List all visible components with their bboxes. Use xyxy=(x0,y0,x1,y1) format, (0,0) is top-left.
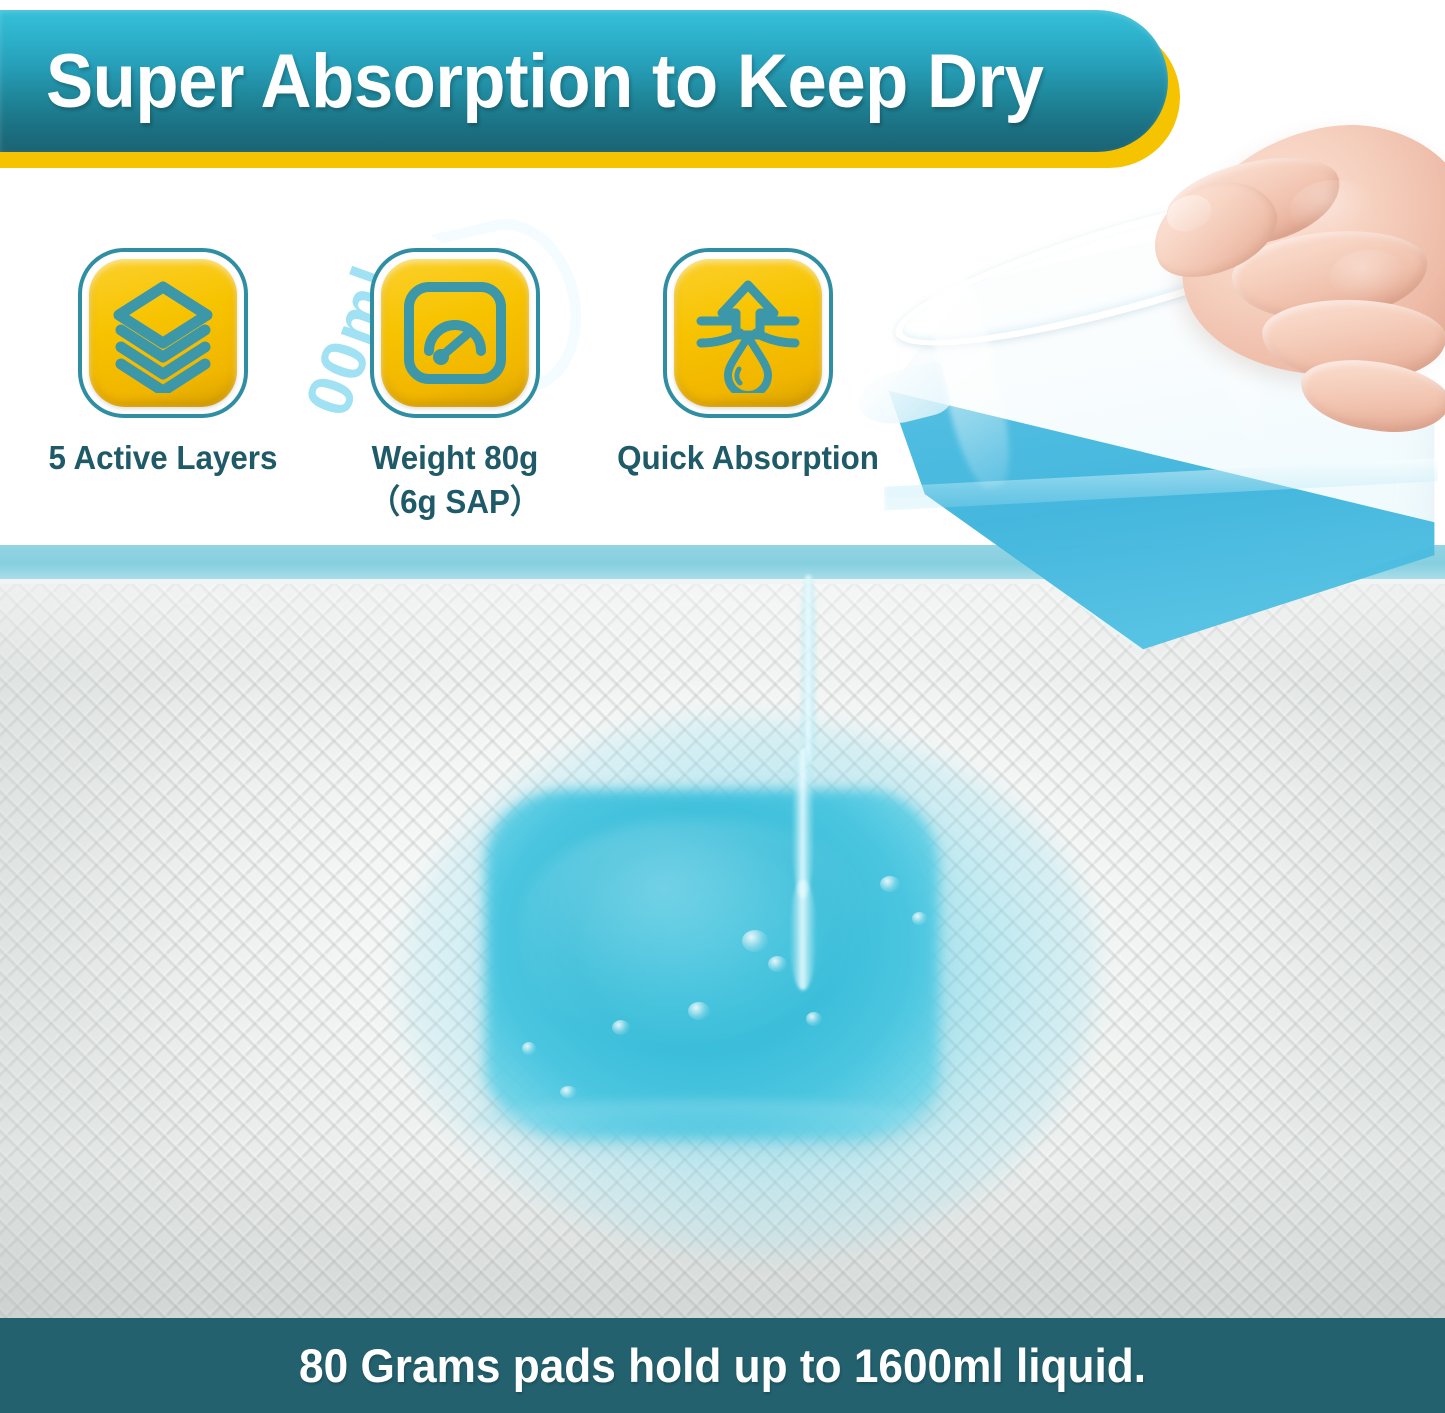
liquid-pool-lower-edge xyxy=(470,1100,940,1140)
blue-divider-band xyxy=(0,545,1445,579)
bubble xyxy=(912,912,927,925)
pouring-stream-upper xyxy=(800,575,817,765)
bubble xyxy=(560,1086,577,1098)
footer-caption: 80 Grams pads hold up to 1600ml liquid. xyxy=(299,1338,1146,1393)
bubble xyxy=(742,930,768,952)
bubble xyxy=(688,1002,710,1020)
absorption-arrow-droplet-icon xyxy=(674,259,822,407)
gauge-icon-badge xyxy=(370,248,540,418)
feature-label-absorption: Quick Absorption xyxy=(606,436,891,479)
bubble xyxy=(522,1042,536,1055)
feature-item-absorption: Quick Absorption xyxy=(598,248,898,479)
bubble xyxy=(612,1020,630,1035)
feature-label-layers: 5 Active Layers xyxy=(25,436,301,479)
pouring-stream-mid xyxy=(792,748,814,898)
header-banner: Super Absorption to Keep Dry xyxy=(0,8,1185,170)
bubble xyxy=(806,1012,822,1026)
product-infographic: Super Absorption to Keep Dry 5 Active La… xyxy=(0,0,1445,1413)
absorption-icon-badge xyxy=(663,248,833,418)
feature-label-weight: Weight 80g xyxy=(317,436,593,479)
page-title: Super Absorption to Keep Dry xyxy=(46,34,1060,130)
gauge-icon xyxy=(381,259,529,407)
footer-caption-bar: 80 Grams pads hold up to 1600ml liquid. xyxy=(0,1318,1445,1413)
layers-icon-badge xyxy=(78,248,248,418)
pouring-stream-lower xyxy=(790,880,816,990)
feature-sublabel-sap: （6g SAP） xyxy=(317,479,593,525)
feature-list: 5 Active Layers Weight 80g （6g SAP） xyxy=(0,248,900,528)
bubble xyxy=(768,956,787,972)
bubble xyxy=(880,876,900,892)
banner-teal-panel: Super Absorption to Keep Dry xyxy=(0,10,1168,152)
feature-item-layers: 5 Active Layers xyxy=(18,248,308,479)
layers-icon xyxy=(89,259,237,407)
feature-item-weight: Weight 80g （6g SAP） xyxy=(310,248,600,525)
